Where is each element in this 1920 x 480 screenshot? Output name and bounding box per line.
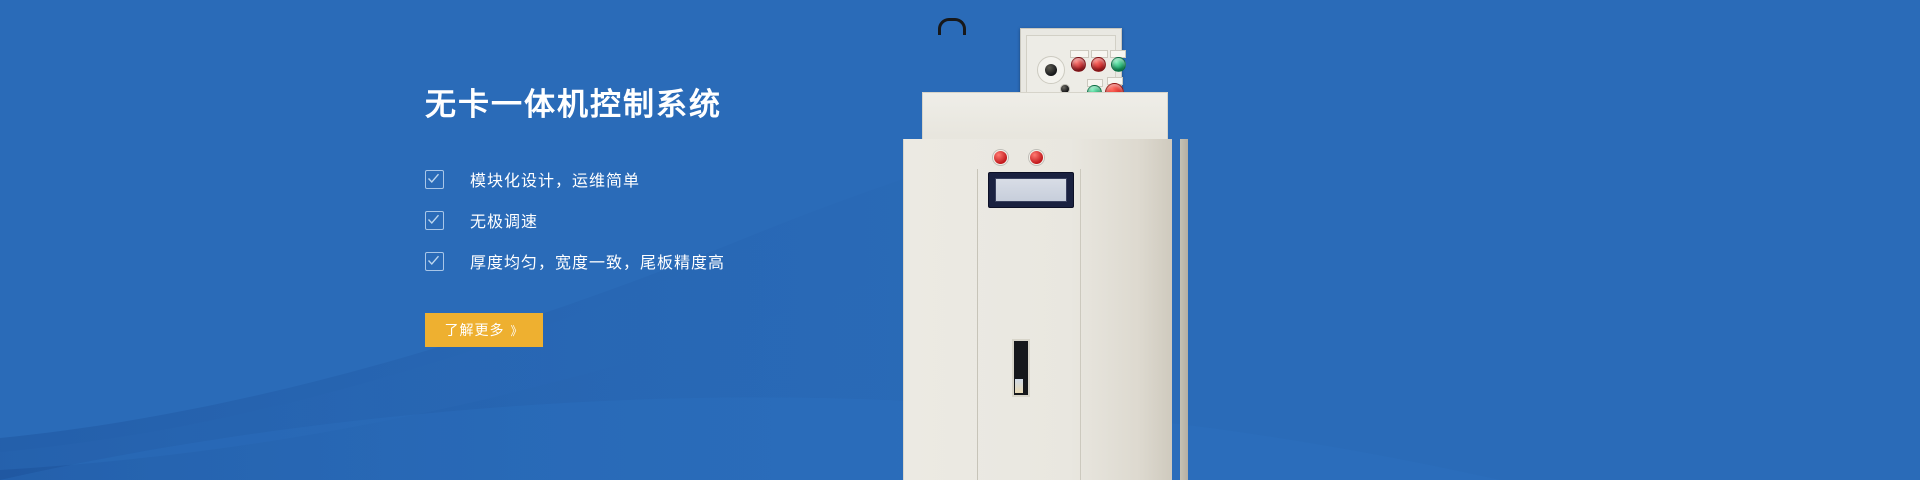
control-panel-box bbox=[1020, 28, 1122, 100]
lamp-green-1 bbox=[1111, 57, 1126, 72]
cabinet-top-cap bbox=[922, 92, 1168, 142]
cabinet-door-seam bbox=[977, 169, 978, 480]
hero-banner: 无卡一体机控制系统 模块化设计，运维简单 无极调速 bbox=[0, 0, 1920, 480]
indicator-red-right bbox=[1029, 150, 1044, 165]
slot-label-tag bbox=[1015, 379, 1023, 393]
touchscreen-hmi bbox=[988, 172, 1074, 208]
control-panel-face bbox=[1026, 35, 1116, 94]
feature-label: 厚度均匀，宽度一致，尾板精度高 bbox=[470, 249, 725, 273]
cabinet-side-edge bbox=[1180, 139, 1188, 480]
cabinet-vent-slot bbox=[1012, 339, 1030, 397]
feature-label: 无极调速 bbox=[470, 208, 538, 232]
rotary-selector-knob bbox=[1037, 56, 1065, 84]
panel-cable-icon bbox=[938, 18, 966, 35]
lamp-red-1 bbox=[1071, 57, 1086, 72]
checkbox-checked-icon bbox=[425, 252, 444, 271]
hmi-screen bbox=[995, 178, 1067, 202]
chevron-right-icon: 》 bbox=[510, 322, 523, 339]
learn-more-button[interactable]: 了解更多 》 bbox=[425, 313, 543, 347]
industrial-control-cabinet-photo bbox=[898, 0, 1188, 480]
checkbox-checked-icon bbox=[425, 170, 444, 189]
lamp-red-2 bbox=[1091, 57, 1106, 72]
learn-more-label: 了解更多 bbox=[444, 320, 504, 340]
cabinet-door-seam bbox=[1080, 169, 1081, 480]
indicator-red-left bbox=[993, 150, 1008, 165]
cabinet-body bbox=[903, 139, 1172, 480]
checkbox-checked-icon bbox=[425, 211, 444, 230]
feature-label: 模块化设计，运维简单 bbox=[470, 167, 640, 191]
